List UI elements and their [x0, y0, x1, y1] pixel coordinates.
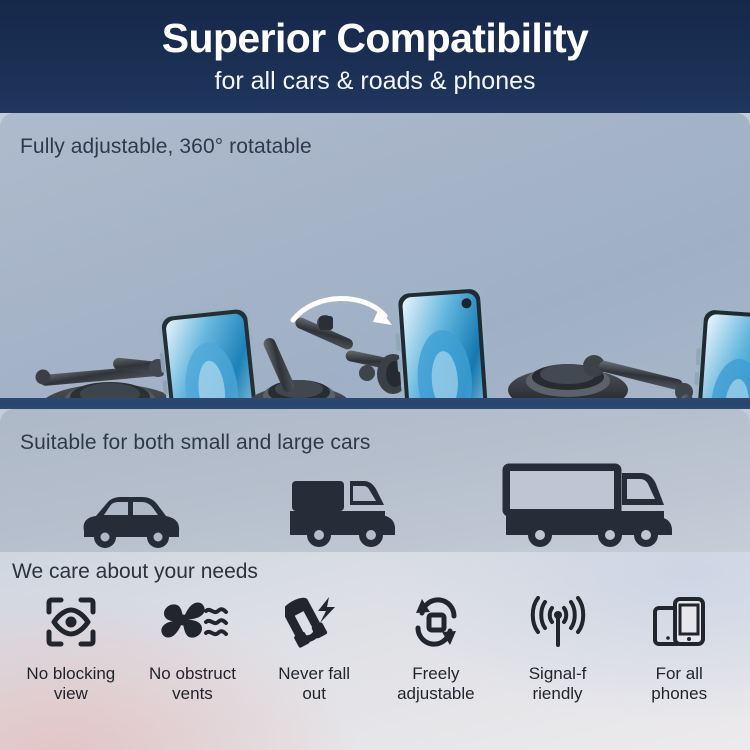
feature-freely-adjustable: Freely adjustable — [375, 594, 497, 704]
cars-panel: Suitable for both small and large cars — [0, 409, 750, 554]
feature-no-blocking-view: No blocking view — [10, 594, 132, 704]
compact-car-icon — [76, 487, 186, 551]
rotate-square-icon — [410, 594, 462, 650]
section-divider — [0, 398, 750, 409]
vehicle-icon-row — [0, 461, 750, 551]
feature-for-all-phones: For all phones — [618, 594, 740, 704]
adjustable-panel: Fully adjustable, 360° rotatable — [0, 113, 750, 398]
box-truck-icon — [498, 463, 674, 551]
product-scene-multi-axis — [498, 278, 750, 398]
feature-label: Never fall out — [278, 664, 350, 704]
feature-never-fall-out: Never fall out — [253, 594, 375, 704]
header-banner: Superior Compatibility for all cars & ro… — [0, 0, 750, 113]
feature-label: Signal-f riendly — [529, 664, 587, 704]
signal-antenna-icon — [529, 594, 587, 650]
feature-label: No blocking view — [26, 664, 115, 704]
adjustable-heading: Fully adjustable, 360° rotatable — [20, 135, 312, 159]
needs-heading: We care about your needs — [12, 560, 258, 584]
pickup-truck-icon — [278, 475, 406, 551]
fan-airflow-icon — [157, 594, 229, 650]
feature-label: No obstruct vents — [149, 664, 236, 704]
needs-panel: We care about your needs — [0, 552, 750, 750]
two-phones-icon — [651, 594, 707, 650]
feature-label: Freely adjustable — [397, 664, 475, 704]
feature-no-obstruct-vents: No obstruct vents — [132, 594, 254, 704]
feature-label: For all phones — [651, 664, 707, 704]
eye-scan-icon — [45, 594, 97, 650]
feature-list: No blocking view — [0, 594, 750, 704]
feature-signal-friendly: Signal-f riendly — [497, 594, 619, 704]
magnet-bolt-icon — [285, 594, 343, 650]
infographic-page: Superior Compatibility for all cars & ro… — [0, 0, 750, 750]
page-title: Superior Compatibility — [0, 13, 750, 63]
product-scene-extended-arm — [245, 278, 520, 398]
page-subtitle: for all cars & roads & phones — [0, 65, 750, 97]
cars-heading: Suitable for both small and large cars — [20, 431, 370, 455]
